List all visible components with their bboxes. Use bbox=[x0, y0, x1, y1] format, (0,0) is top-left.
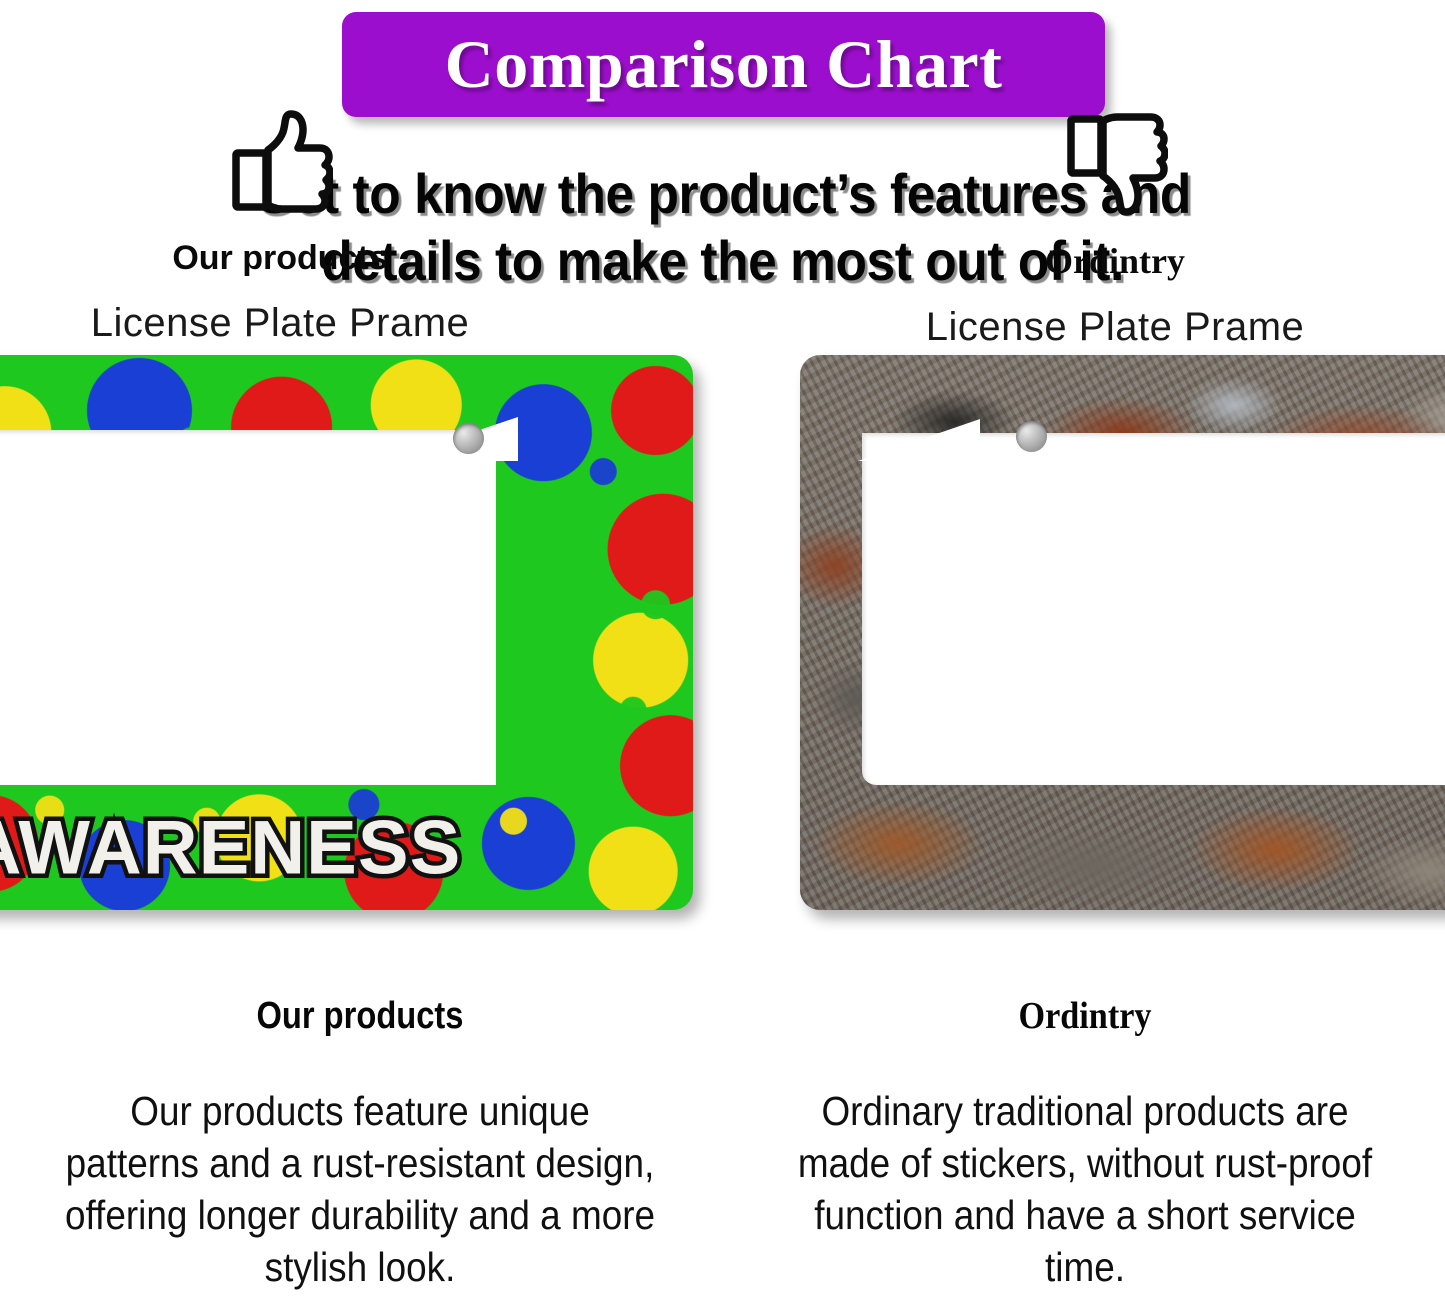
column-heading-ordinary: Ordintry bbox=[788, 995, 1382, 1039]
column-heading-ours: Our products bbox=[76, 995, 644, 1039]
column-body-ordinary: Ordinary traditional products are made o… bbox=[788, 1085, 1382, 1293]
product-frame-ordinary bbox=[800, 355, 1445, 910]
awareness-band: M AWARENESS bbox=[0, 785, 693, 910]
screw-hole-icon bbox=[453, 423, 484, 454]
thumbs-down-icon bbox=[1062, 112, 1168, 221]
product-frame-ours: M AWARENESS bbox=[0, 355, 693, 910]
frame-content-ours: Our products License Plate Prame bbox=[60, 110, 500, 343]
comparison-chart-banner: Comparison Chart bbox=[342, 12, 1105, 117]
brand-label-ours: Our products bbox=[172, 241, 387, 275]
description-column-ours: Our products Our products feature unique… bbox=[30, 995, 690, 1293]
page-title: Comparison Chart bbox=[445, 25, 1003, 104]
brand-label-ordinary: Ordintry bbox=[1045, 243, 1185, 279]
product-label-ordinary: License Plate Prame bbox=[926, 307, 1305, 347]
product-label-ours: License Plate Prame bbox=[91, 303, 470, 343]
plate-window-left bbox=[0, 430, 496, 785]
screw-hole-icon bbox=[1016, 421, 1047, 452]
frame-content-ordinary: Ordintry License Plate Prame bbox=[815, 112, 1415, 347]
description-column-ordinary: Ordintry Ordinary traditional products a… bbox=[755, 995, 1415, 1293]
awareness-band-text: M AWARENESS bbox=[0, 804, 461, 891]
plate-window-right bbox=[862, 433, 1445, 785]
thumbs-up-icon bbox=[227, 110, 333, 219]
column-body-ours: Our products feature unique patterns and… bbox=[63, 1085, 657, 1293]
